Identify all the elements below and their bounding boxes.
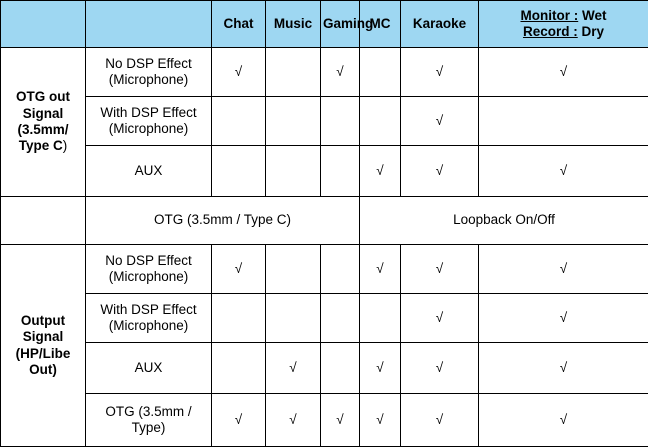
group-label-line2: Signal <box>3 329 83 345</box>
source-label-cell: AUX <box>86 146 212 197</box>
source-label-cell: No DSP Effect (Microphone) <box>86 48 212 97</box>
divider-otg-label: OTG (3.5mm / Type C) <box>86 197 360 245</box>
source-label-cell: AUX <box>86 343 212 394</box>
divider-blank-cell <box>1 197 86 245</box>
cell-monitor: √ <box>479 48 648 97</box>
monitor-label: Monitor : <box>520 8 578 23</box>
source-label-cell: With DSP Effect (Microphone) <box>86 294 212 343</box>
header-monitor-record: Monitor : Wet Record : Dry <box>479 1 648 48</box>
source-label-cell: With DSP Effect (Microphone) <box>86 97 212 146</box>
record-label: Record : <box>523 24 578 39</box>
cell-chat: √ <box>212 48 266 97</box>
header-chat: Chat <box>212 1 266 48</box>
cell-chat <box>212 294 266 343</box>
source-line1: With DSP Effect <box>88 105 209 121</box>
source-label-cell: OTG (3.5mm / Type) <box>86 394 212 447</box>
cell-monitor: √ <box>479 294 648 343</box>
cell-mc: √ <box>360 343 401 394</box>
cell-gaming <box>321 294 360 343</box>
table-row: With DSP Effect (Microphone) √ <box>1 97 648 146</box>
cell-mc <box>360 48 401 97</box>
header-record-line: Record : Dry <box>481 24 646 40</box>
group-label-line1: OTG out <box>3 89 83 105</box>
cell-chat: √ <box>212 245 266 294</box>
cell-gaming: √ <box>321 48 360 97</box>
cell-music <box>266 245 321 294</box>
table-row: AUX √ √ √ √ <box>1 343 648 394</box>
header-blank-group <box>1 1 86 48</box>
cell-gaming: √ <box>321 394 360 447</box>
cell-karaoke: √ <box>401 245 479 294</box>
cell-monitor: √ <box>479 343 648 394</box>
cell-music <box>266 97 321 146</box>
cell-mc <box>360 294 401 343</box>
group-label-otg-out: OTG out Signal (3.5mm/ Type C) <box>1 48 86 197</box>
group-label-output: Output Signal (HP/Libe Out) <box>1 245 86 447</box>
cell-gaming <box>321 245 360 294</box>
cell-monitor: √ <box>479 146 648 197</box>
cell-monitor <box>479 97 648 146</box>
source-line2: Type) <box>88 420 209 436</box>
cell-karaoke: √ <box>401 48 479 97</box>
cell-music: √ <box>266 343 321 394</box>
divider-loopback-label: Loopback On/Off <box>360 197 648 245</box>
source-line2: (Microphone) <box>88 72 209 88</box>
source-label-cell: No DSP Effect (Microphone) <box>86 245 212 294</box>
source-line2: (Microphone) <box>88 318 209 334</box>
cell-karaoke: √ <box>401 343 479 394</box>
source-line1: No DSP Effect <box>88 56 209 72</box>
cell-mc <box>360 97 401 146</box>
cell-music <box>266 48 321 97</box>
cell-karaoke: √ <box>401 294 479 343</box>
header-monitor-line: Monitor : Wet <box>481 8 646 24</box>
cell-monitor: √ <box>479 394 648 447</box>
mode-divider-row: OTG (3.5mm / Type C) Loopback On/Off <box>1 197 648 245</box>
cell-karaoke: √ <box>401 97 479 146</box>
table-header-row: Chat Music Gaming MC Karaoke Monitor : W… <box>1 1 648 48</box>
source-line2: (Microphone) <box>88 121 209 137</box>
cell-chat <box>212 343 266 394</box>
table-row: OTG (3.5mm / Type) √ √ √ √ √ √ <box>1 394 648 447</box>
cell-karaoke: √ <box>401 146 479 197</box>
group-label-line1: Output <box>3 313 83 329</box>
header-blank-source <box>86 1 212 48</box>
table-row: Output Signal (HP/Libe Out) No DSP Effec… <box>1 245 648 294</box>
source-line1: With DSP Effect <box>88 302 209 318</box>
cell-gaming <box>321 146 360 197</box>
group-label-line3: (3.5mm/ <box>3 122 83 138</box>
group-label-line3: (HP/Libe <box>3 346 83 362</box>
feature-compatibility-table: Chat Music Gaming MC Karaoke Monitor : W… <box>0 0 648 447</box>
cell-music <box>266 294 321 343</box>
cell-karaoke: √ <box>401 394 479 447</box>
table-row: With DSP Effect (Microphone) √ √ <box>1 294 648 343</box>
header-gaming: Gaming <box>321 1 360 48</box>
cell-mc: √ <box>360 146 401 197</box>
cell-mc: √ <box>360 394 401 447</box>
source-line1: No DSP Effect <box>88 253 209 269</box>
source-line2: (Microphone) <box>88 269 209 285</box>
cell-monitor: √ <box>479 245 648 294</box>
header-karaoke: Karaoke <box>401 1 479 48</box>
group-label-line4: Type C) <box>3 138 83 154</box>
monitor-value: Wet <box>582 8 607 23</box>
table-row: OTG out Signal (3.5mm/ Type C) No DSP Ef… <box>1 48 648 97</box>
cell-music <box>266 146 321 197</box>
table-row: AUX √ √ √ <box>1 146 648 197</box>
cell-chat: √ <box>212 394 266 447</box>
record-value: Dry <box>582 24 605 39</box>
group-label-line2: Signal <box>3 106 83 122</box>
cell-chat <box>212 146 266 197</box>
cell-mc: √ <box>360 245 401 294</box>
cell-gaming <box>321 343 360 394</box>
header-music: Music <box>266 1 321 48</box>
cell-chat <box>212 97 266 146</box>
group-label-line4: Out) <box>3 362 83 378</box>
cell-music: √ <box>266 394 321 447</box>
cell-gaming <box>321 97 360 146</box>
